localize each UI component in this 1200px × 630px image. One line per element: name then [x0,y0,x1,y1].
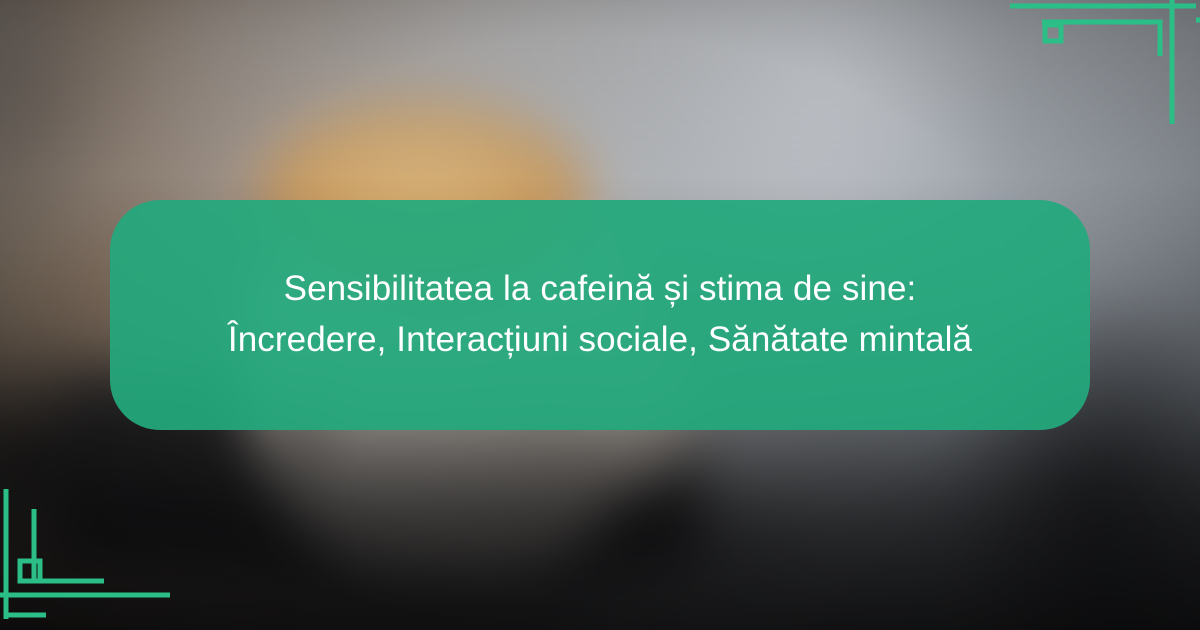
page-title: Sensibilitatea la cafeină și stima de si… [228,264,972,366]
corner-bracket-bottom-left-icon [0,465,200,630]
corner-bracket-top-right-icon [1000,0,1200,135]
title-pill: Sensibilitatea la cafeină și stima de si… [110,200,1090,430]
share-card-canvas: Sensibilitatea la cafeină și stima de si… [0,0,1200,630]
